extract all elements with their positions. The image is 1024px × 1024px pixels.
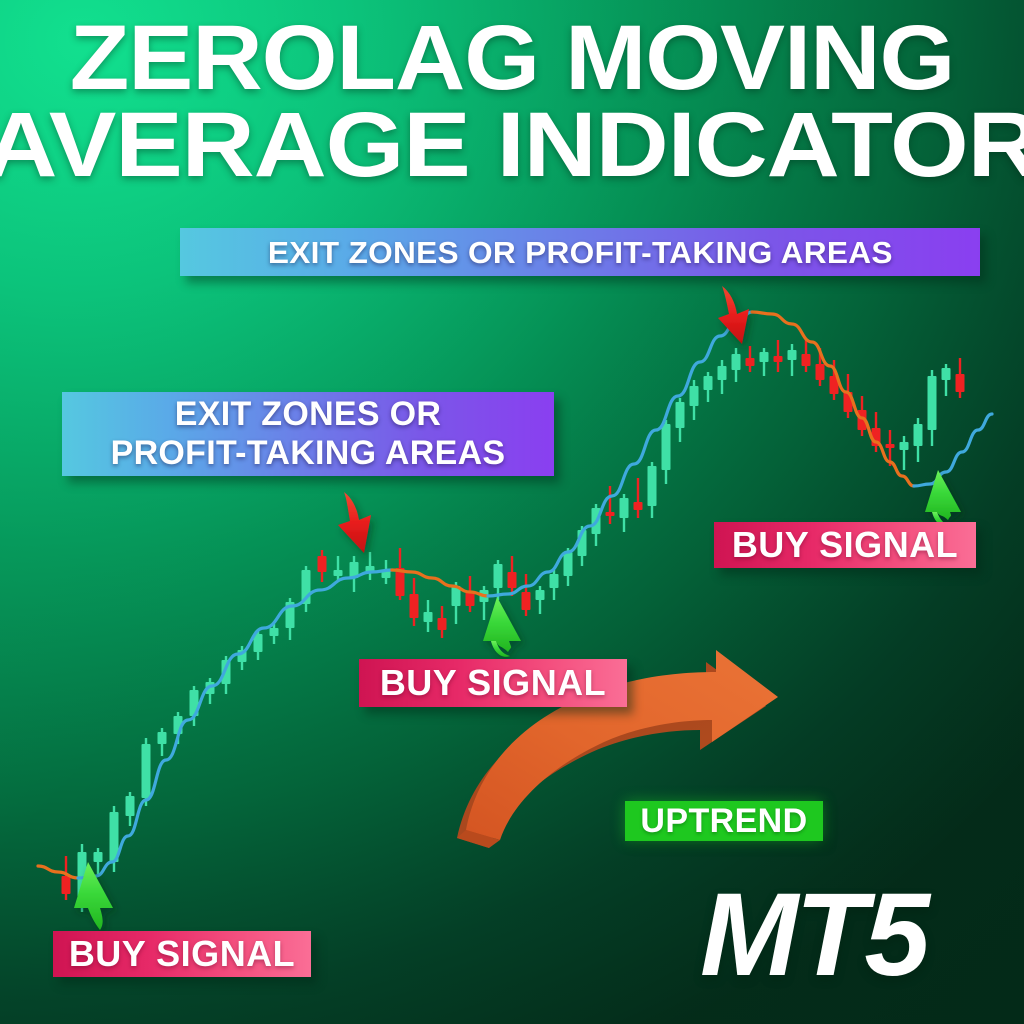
title-line-1: ZEROLAG MOVING [0,16,1024,101]
exit-zones-banner-mid-line-1: EXIT ZONES OR [175,395,442,434]
buy-signal-badge-1: BUY SIGNAL [53,931,311,977]
buy-arrow-3-icon [925,470,961,527]
exit-zones-banner-mid-line-2: PROFIT-TAKING AREAS [111,434,506,473]
buy-signal-badge-2: BUY SIGNAL [359,659,627,707]
buy-signal-badge-3: BUY SIGNAL [714,522,976,568]
poster-title: ZEROLAG MOVING AVERAGE INDICATOR [0,16,1024,187]
title-line-2: AVERAGE INDICATOR [0,103,1024,188]
sell-arrow-2-icon [718,286,749,344]
exit-zones-banner-top: EXIT ZONES OR PROFIT-TAKING AREAS [180,228,980,276]
buy-arrow-2-icon [483,597,521,657]
exit-zones-banner-top-line-1: EXIT ZONES OR PROFIT-TAKING AREAS [268,237,893,268]
poster-canvas: ZEROLAG MOVING AVERAGE INDICATOR EXIT ZO… [0,0,1024,1024]
sell-arrow-1-icon [338,492,371,553]
uptrend-badge: UPTREND [625,801,823,841]
exit-zones-banner-mid: EXIT ZONES OR PROFIT-TAKING AREAS [62,392,554,476]
buy-arrow-1-icon [74,862,113,930]
mt5-logo: MT5 [700,876,927,994]
